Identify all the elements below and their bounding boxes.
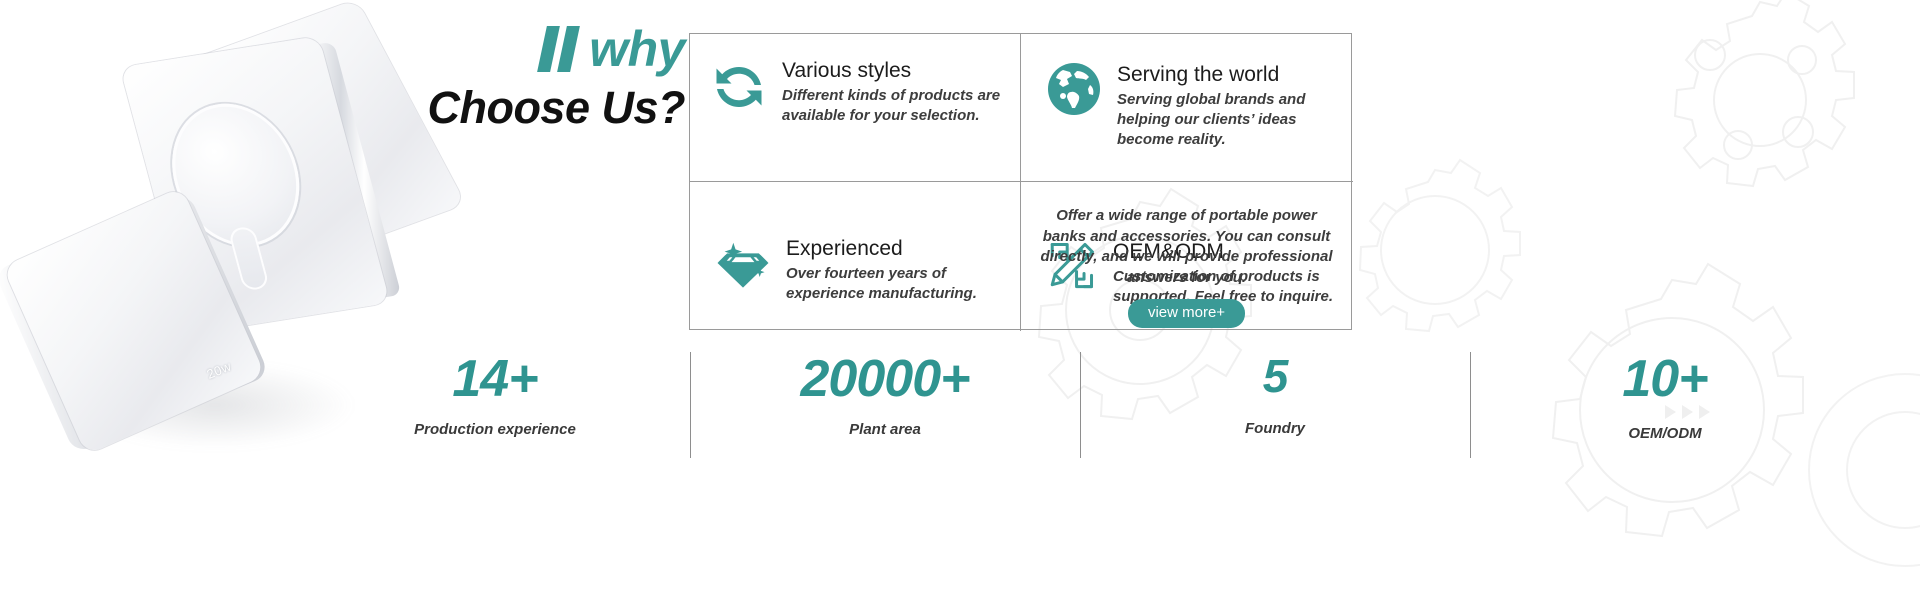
feature-description: Serving global brands and helping our cl… (1117, 90, 1337, 149)
headline-why: why (589, 24, 685, 74)
stat-production-experience: 14+ Production experience (300, 352, 690, 462)
diamond-icon (714, 234, 772, 292)
feature-cell-various-styles: Various styles Different kinds of produc… (690, 34, 1021, 182)
headline-choose-us: Choose Us? (415, 84, 685, 131)
stat-oem-odm: 10+ OEM/ODM (1470, 352, 1860, 462)
feature-description: Different kinds of products are availabl… (782, 86, 1004, 126)
stat-value: 10+ (1470, 352, 1860, 407)
feature-cell-experienced: Experienced Over fourteen years of exper… (690, 182, 1021, 331)
stat-label: Plant area (690, 421, 1080, 438)
quote-bars-icon (537, 26, 580, 72)
feature-title: Experienced (786, 236, 1004, 261)
stat-plant-area: 20000+ Plant area (690, 352, 1080, 462)
globe-icon (1045, 60, 1103, 118)
stat-value: 20000+ (690, 352, 1080, 407)
stat-value: 14+ (300, 352, 690, 407)
stat-label: OEM/ODM (1470, 425, 1860, 442)
feature-description: Over fourteen years of experience manufa… (786, 264, 1004, 304)
stat-value: 5 (1080, 352, 1470, 400)
stats-row: 14+ Production experience 20000+ Plant a… (300, 352, 1860, 462)
view-more-button[interactable]: view more+ (1128, 299, 1245, 328)
headline-row-1: why (415, 24, 685, 74)
headline-block: why Choose Us? (415, 24, 685, 131)
feature-title: Various styles (782, 58, 1004, 83)
promo-cell: Offer a wide range of portable power ban… (1021, 182, 1352, 330)
promo-text: Offer a wide range of portable power ban… (1039, 206, 1334, 289)
stat-foundry: 5 Foundry (1080, 352, 1470, 462)
stat-label: Production experience (300, 421, 690, 438)
why-choose-us-banner: 20w 20w why Choose Us? (0, 0, 1920, 597)
refresh-cycle-icon (710, 58, 768, 116)
feature-title: Serving the world (1117, 62, 1337, 87)
stat-label: Foundry (1080, 420, 1470, 437)
feature-cell-serving-the-world: Serving the world Serving global brands … (1021, 34, 1353, 182)
